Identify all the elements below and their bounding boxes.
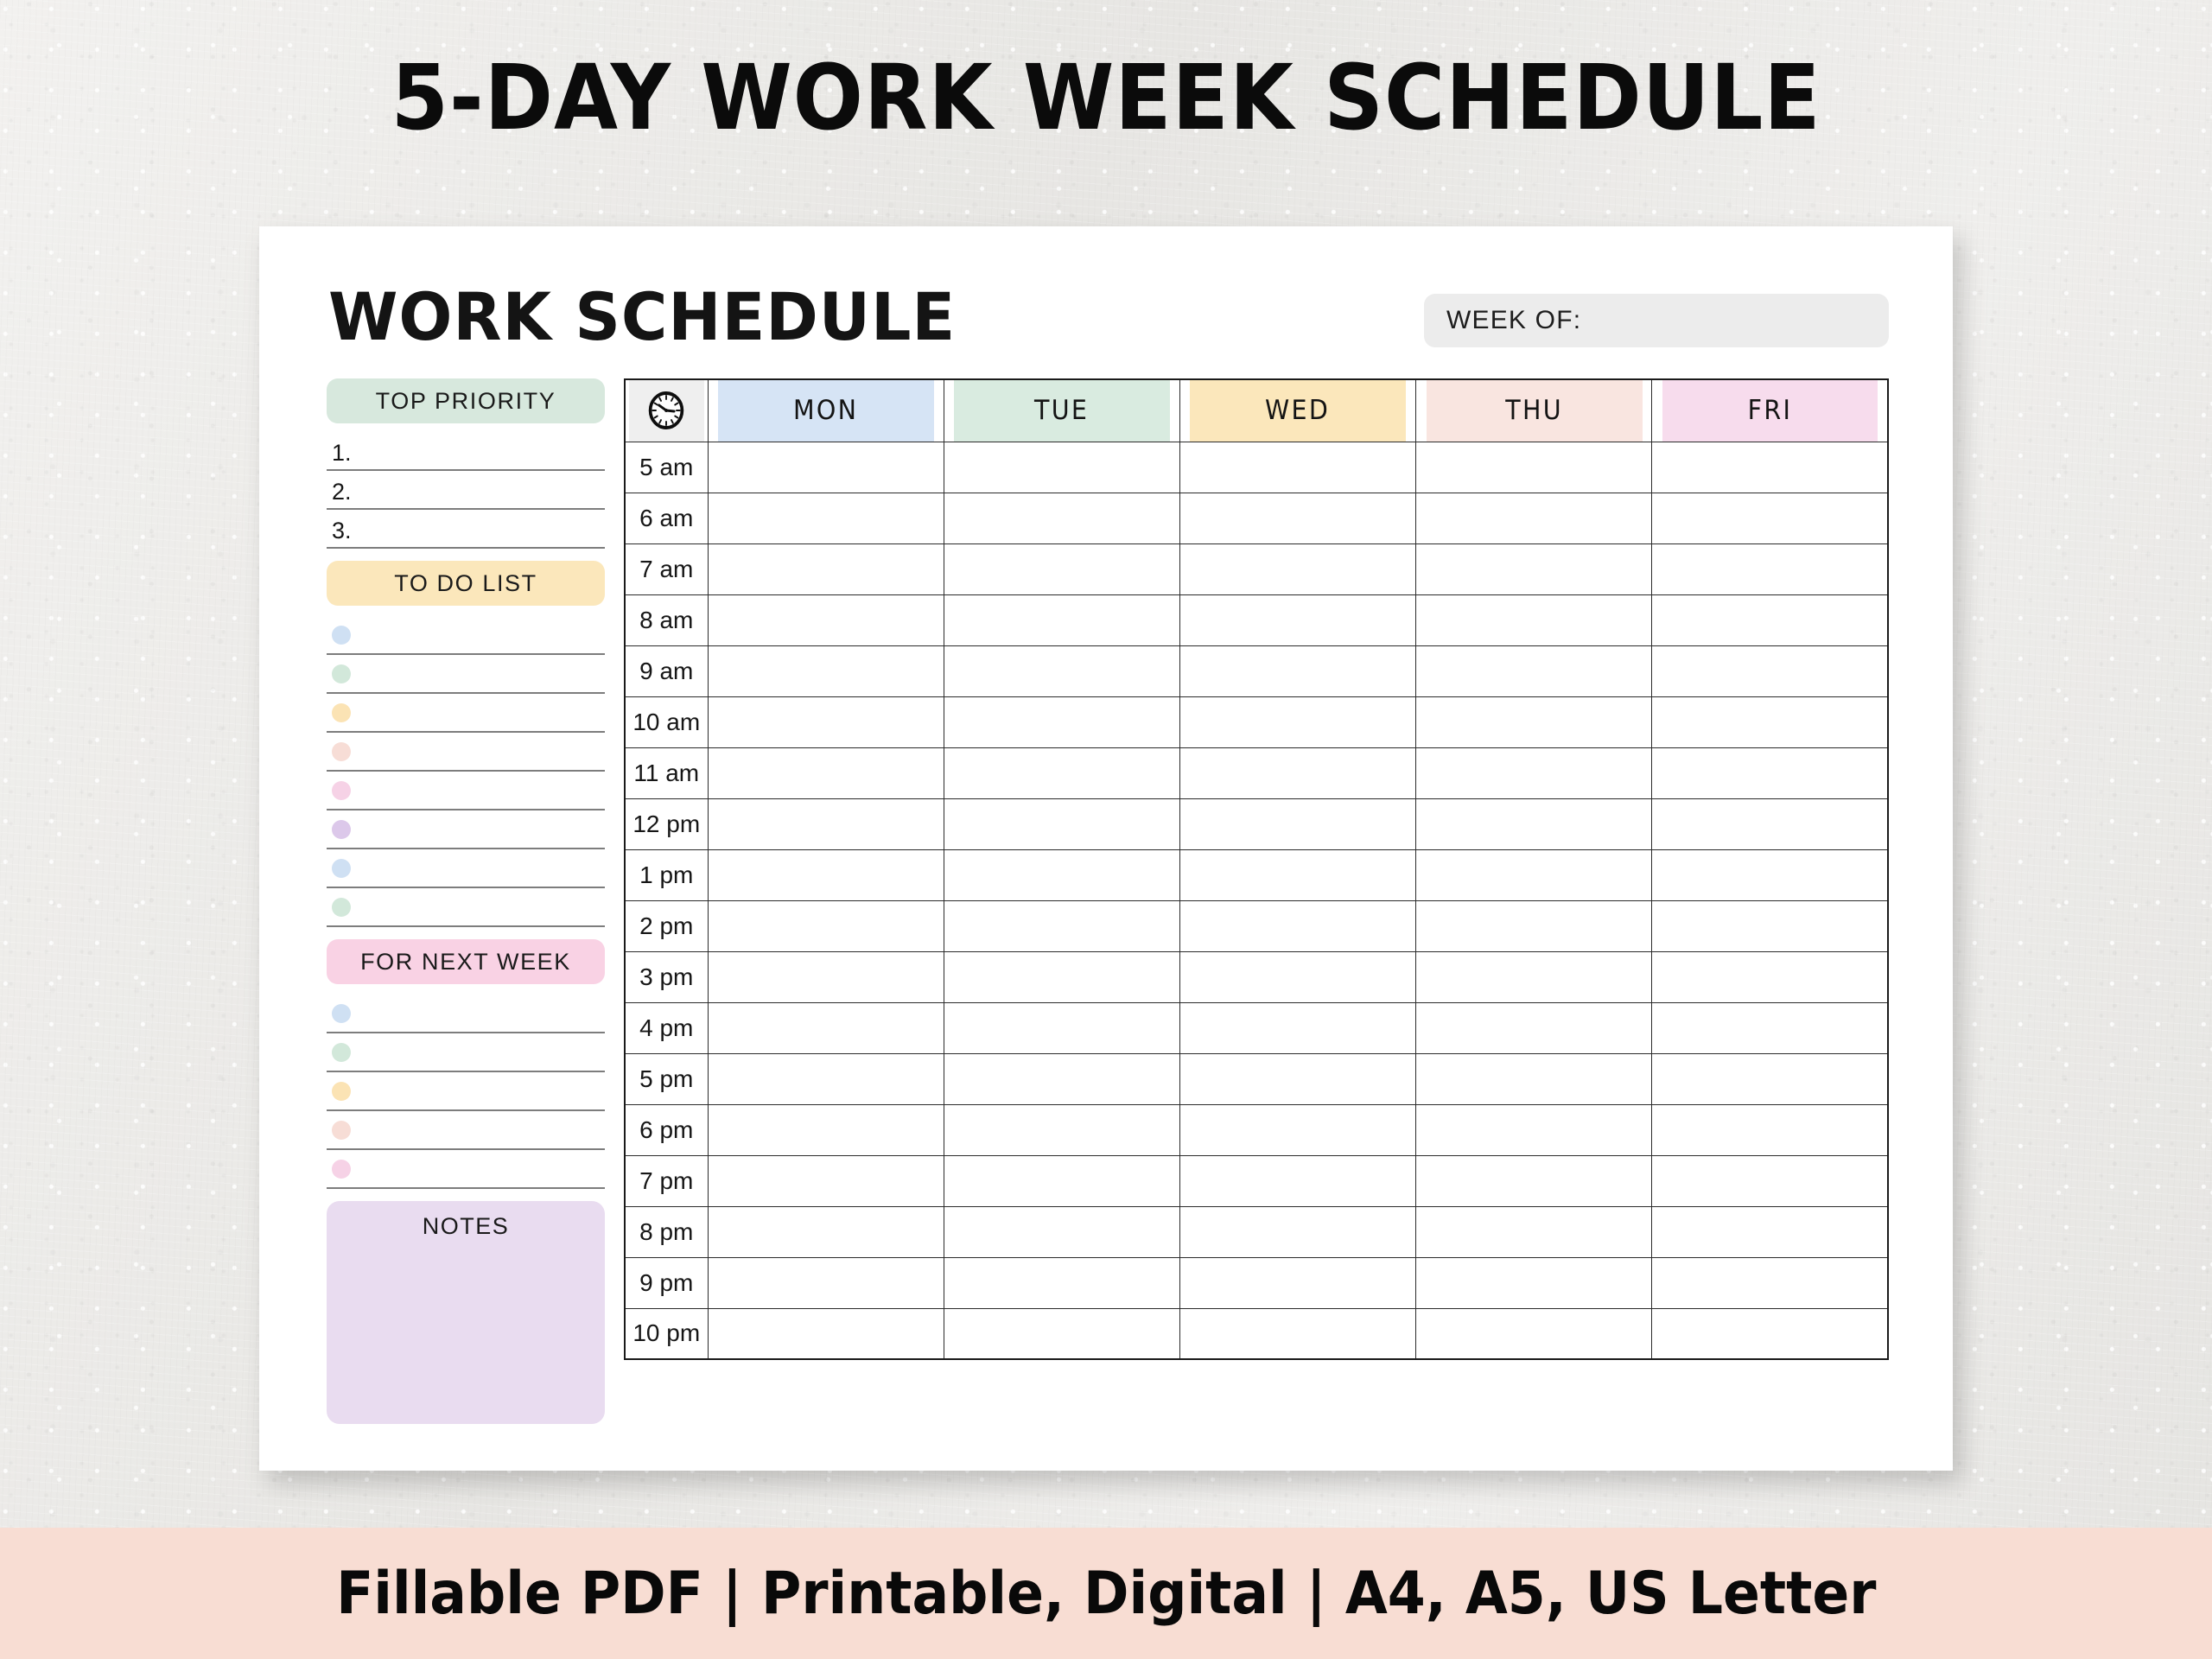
bottom-banner: Fillable PDF | Printable, Digital | A4, … <box>0 1528 2212 1659</box>
list-item[interactable] <box>327 694 605 733</box>
todo-bullet-icon <box>332 781 351 800</box>
time-label: 11 am <box>625 747 708 798</box>
schedule-cell-mon-6pm[interactable] <box>708 1104 944 1155</box>
time-label: 12 pm <box>625 798 708 849</box>
time-label: 10 pm <box>625 1308 708 1359</box>
list-item[interactable] <box>327 772 605 810</box>
time-label: 10 am <box>625 696 708 747</box>
schedule-cell-thu-8pm[interactable] <box>1416 1206 1652 1257</box>
time-label: 7 pm <box>625 1155 708 1206</box>
schedule-cell-wed-8pm[interactable] <box>1179 1206 1415 1257</box>
planner-card-inner: WORK SCHEDULE WEEK OF: TOP PRIORITY 1. 2… <box>327 266 1889 1424</box>
list-item[interactable]: 3. <box>327 510 605 549</box>
schedule-table: MONTUEWEDTHUFRI 5 am6 am7 am8 am9 am10 a… <box>624 378 1889 1360</box>
schedule-cell-mon-10am[interactable] <box>708 696 944 747</box>
schedule-cell-fri-3pm[interactable] <box>1652 951 1888 1002</box>
day-header-tue: TUE <box>953 379 1170 442</box>
schedule-cell-fri-2pm[interactable] <box>1652 900 1888 951</box>
schedule-cell-thu-2pm[interactable] <box>1416 900 1652 951</box>
notes-label: NOTES <box>423 1213 510 1424</box>
schedule-row: 10 am <box>625 696 1888 747</box>
to-do-list <box>327 616 605 927</box>
schedule-cell-mon-7pm[interactable] <box>708 1155 944 1206</box>
schedule-cell-wed-8am[interactable] <box>1179 594 1415 645</box>
schedule-cell-mon-2pm[interactable] <box>708 900 944 951</box>
list-item[interactable] <box>327 1072 605 1111</box>
schedule-cell-tue-7am[interactable] <box>944 543 1179 594</box>
planner-body: TOP PRIORITY 1. 2. 3. TO DO LIST <box>327 378 1889 1415</box>
schedule-cell-tue-6pm[interactable] <box>944 1104 1179 1155</box>
planner-heading: WORK SCHEDULE <box>328 278 956 355</box>
schedule-cell-mon-7am[interactable] <box>708 543 944 594</box>
for-next-week-list <box>327 995 605 1189</box>
day-header-mon: MON <box>717 379 934 442</box>
schedule-cell-wed-9am[interactable] <box>1179 645 1415 696</box>
time-label: 6 pm <box>625 1104 708 1155</box>
time-label: 1 pm <box>625 849 708 900</box>
schedule-cell-mon-11am[interactable] <box>708 747 944 798</box>
schedule-cell-mon-4pm[interactable] <box>708 1002 944 1053</box>
schedule-row: 10 pm <box>625 1308 1888 1359</box>
schedule-row: 3 pm <box>625 951 1888 1002</box>
schedule-row: 8 pm <box>625 1206 1888 1257</box>
schedule-cell-tue-1pm[interactable] <box>944 849 1179 900</box>
schedule-cell-mon-6am[interactable] <box>708 493 944 543</box>
schedule-cell-thu-11am[interactable] <box>1416 747 1652 798</box>
schedule-cell-wed-7pm[interactable] <box>1179 1155 1415 1206</box>
schedule-cell-fri-7am[interactable] <box>1652 543 1888 594</box>
todo-bullet-icon <box>332 742 351 761</box>
list-item[interactable] <box>327 616 605 655</box>
time-label: 5 pm <box>625 1053 708 1104</box>
schedule-row: 6 pm <box>625 1104 1888 1155</box>
todo-bullet-icon <box>332 626 351 645</box>
schedule-cell-fri-9pm[interactable] <box>1652 1257 1888 1308</box>
schedule-cell-mon-3pm[interactable] <box>708 951 944 1002</box>
schedule-cell-wed-5pm[interactable] <box>1179 1053 1415 1104</box>
planner-card: WORK SCHEDULE WEEK OF: TOP PRIORITY 1. 2… <box>259 226 1953 1471</box>
schedule-cell-tue-11am[interactable] <box>944 747 1179 798</box>
schedule-cell-tue-2pm[interactable] <box>944 900 1179 951</box>
schedule-row: 7 am <box>625 543 1888 594</box>
bottom-banner-text: Fillable PDF | Printable, Digital | A4, … <box>336 1560 1876 1628</box>
time-label: 9 pm <box>625 1257 708 1308</box>
schedule-cell-mon-8am[interactable] <box>708 594 944 645</box>
schedule-cell-thu-9pm[interactable] <box>1416 1257 1652 1308</box>
schedule-header-row: MONTUEWEDTHUFRI <box>625 379 1888 442</box>
schedule-cell-tue-8am[interactable] <box>944 594 1179 645</box>
schedule-cell-wed-4pm[interactable] <box>1179 1002 1415 1053</box>
schedule-cell-wed-10am[interactable] <box>1179 696 1415 747</box>
schedule-row: 5 pm <box>625 1053 1888 1104</box>
schedule-cell-tue-3pm[interactable] <box>944 951 1179 1002</box>
schedule-cell-wed-5am[interactable] <box>1179 442 1415 493</box>
schedule-cell-fri-1pm[interactable] <box>1652 849 1888 900</box>
schedule-cell-mon-5am[interactable] <box>708 442 944 493</box>
list-item[interactable] <box>327 733 605 772</box>
schedule-cell-fri-5pm[interactable] <box>1652 1053 1888 1104</box>
schedule-cell-fri-9am[interactable] <box>1652 645 1888 696</box>
schedule-cell-wed-1pm[interactable] <box>1179 849 1415 900</box>
schedule-cell-tue-5am[interactable] <box>944 442 1179 493</box>
schedule-cell-tue-10pm[interactable] <box>944 1308 1179 1359</box>
schedule-row: 8 am <box>625 594 1888 645</box>
section-header-top-priority: TOP PRIORITY <box>327 378 605 423</box>
schedule-cell-fri-8pm[interactable] <box>1652 1206 1888 1257</box>
schedule-cell-fri-6am[interactable] <box>1652 493 1888 543</box>
schedule-cell-thu-5am[interactable] <box>1416 442 1652 493</box>
notes-box[interactable]: NOTES <box>327 1201 605 1424</box>
next-week-bullet-icon <box>332 1160 351 1179</box>
schedule-cell-wed-10pm[interactable] <box>1179 1308 1415 1359</box>
schedule-cell-thu-5pm[interactable] <box>1416 1053 1652 1104</box>
schedule-cell-fri-10pm[interactable] <box>1652 1308 1888 1359</box>
schedule-cell-tue-8pm[interactable] <box>944 1206 1179 1257</box>
list-item[interactable]: 1. <box>327 432 605 471</box>
schedule-cell-mon-8pm[interactable] <box>708 1206 944 1257</box>
priority-number: 1. <box>327 440 352 469</box>
schedule-cell-tue-9pm[interactable] <box>944 1257 1179 1308</box>
schedule-row: 6 am <box>625 493 1888 543</box>
time-label: 7 am <box>625 543 708 594</box>
priority-number: 3. <box>327 518 352 547</box>
todo-bullet-icon <box>332 703 351 722</box>
week-of-field[interactable]: WEEK OF: <box>1424 294 1889 347</box>
schedule-cell-mon-9pm[interactable] <box>708 1257 944 1308</box>
schedule-cell-thu-12pm[interactable] <box>1416 798 1652 849</box>
schedule-cell-tue-7pm[interactable] <box>944 1155 1179 1206</box>
schedule-cell-fri-6pm[interactable] <box>1652 1104 1888 1155</box>
schedule-cell-mon-1pm[interactable] <box>708 849 944 900</box>
schedule-cell-wed-7am[interactable] <box>1179 543 1415 594</box>
schedule-row: 4 pm <box>625 1002 1888 1053</box>
schedule-cell-tue-10am[interactable] <box>944 696 1179 747</box>
schedule-cell-fri-5am[interactable] <box>1652 442 1888 493</box>
todo-bullet-icon <box>332 898 351 917</box>
schedule-body: 5 am6 am7 am8 am9 am10 am11 am12 pm1 pm2… <box>625 442 1888 1359</box>
todo-bullet-icon <box>332 820 351 839</box>
todo-bullet-icon <box>332 664 351 683</box>
schedule-cell-wed-11am[interactable] <box>1179 747 1415 798</box>
schedule-row: 9 pm <box>625 1257 1888 1308</box>
time-label: 2 pm <box>625 900 708 951</box>
schedule-cell-thu-4pm[interactable] <box>1416 1002 1652 1053</box>
section-header-for-next-week: FOR NEXT WEEK <box>327 939 605 984</box>
list-item[interactable] <box>327 810 605 849</box>
list-item[interactable] <box>327 849 605 888</box>
schedule-cell-tue-4pm[interactable] <box>944 1002 1179 1053</box>
time-label: 4 pm <box>625 1002 708 1053</box>
schedule-cell-thu-7am[interactable] <box>1416 543 1652 594</box>
clock-icon-cell <box>628 379 704 442</box>
schedule-cell-thu-6am[interactable] <box>1416 493 1652 543</box>
schedule-cell-fri-7pm[interactable] <box>1652 1155 1888 1206</box>
schedule-cell-fri-4pm[interactable] <box>1652 1002 1888 1053</box>
priority-number: 2. <box>327 479 352 508</box>
poster-title: 5-DAY WORK WEEK SCHEDULE <box>88 45 2123 150</box>
schedule-cell-tue-5pm[interactable] <box>944 1053 1179 1104</box>
schedule-cell-wed-6pm[interactable] <box>1179 1104 1415 1155</box>
schedule-grid-wrapper: MONTUEWEDTHUFRI 5 am6 am7 am8 am9 am10 a… <box>624 378 1889 1415</box>
schedule-row: 11 am <box>625 747 1888 798</box>
schedule-cell-wed-12pm[interactable] <box>1179 798 1415 849</box>
schedule-cell-wed-2pm[interactable] <box>1179 900 1415 951</box>
next-week-bullet-icon <box>332 1082 351 1101</box>
schedule-row: 12 pm <box>625 798 1888 849</box>
next-week-bullet-icon <box>332 1043 351 1062</box>
todo-bullet-icon <box>332 859 351 878</box>
list-item[interactable] <box>327 655 605 694</box>
planner-header: WORK SCHEDULE WEEK OF: <box>327 266 1889 378</box>
schedule-cell-tue-9am[interactable] <box>944 645 1179 696</box>
time-label: 8 am <box>625 594 708 645</box>
schedule-cell-thu-1pm[interactable] <box>1416 849 1652 900</box>
clock-icon <box>647 390 685 431</box>
section-header-to-do-list: TO DO LIST <box>327 561 605 606</box>
top-priority-list: 1. 2. 3. <box>327 432 605 549</box>
schedule-cell-mon-9am[interactable] <box>708 645 944 696</box>
schedule-cell-thu-3pm[interactable] <box>1416 951 1652 1002</box>
time-label: 5 am <box>625 442 708 493</box>
schedule-row: 9 am <box>625 645 1888 696</box>
schedule-row: 7 pm <box>625 1155 1888 1206</box>
list-item[interactable] <box>327 1033 605 1072</box>
schedule-cell-tue-6am[interactable] <box>944 493 1179 543</box>
list-item[interactable] <box>327 1150 605 1189</box>
schedule-cell-mon-12pm[interactable] <box>708 798 944 849</box>
schedule-cell-fri-10am[interactable] <box>1652 696 1888 747</box>
schedule-cell-fri-12pm[interactable] <box>1652 798 1888 849</box>
list-item[interactable]: 2. <box>327 471 605 510</box>
day-header-fri: FRI <box>1662 379 1878 442</box>
schedule-cell-mon-10pm[interactable] <box>708 1308 944 1359</box>
schedule-cell-fri-11am[interactable] <box>1652 747 1888 798</box>
next-week-bullet-icon <box>332 1121 351 1140</box>
list-item[interactable] <box>327 1111 605 1150</box>
schedule-cell-thu-8am[interactable] <box>1416 594 1652 645</box>
list-item[interactable] <box>327 995 605 1033</box>
schedule-cell-thu-10pm[interactable] <box>1416 1308 1652 1359</box>
schedule-cell-tue-12pm[interactable] <box>944 798 1179 849</box>
schedule-row: 1 pm <box>625 849 1888 900</box>
schedule-cell-thu-10am[interactable] <box>1416 696 1652 747</box>
time-label: 6 am <box>625 493 708 543</box>
next-week-bullet-icon <box>332 1004 351 1023</box>
schedule-cell-wed-6am[interactable] <box>1179 493 1415 543</box>
schedule-cell-fri-8am[interactable] <box>1652 594 1888 645</box>
sidebar: TOP PRIORITY 1. 2. 3. TO DO LIST <box>327 378 605 1415</box>
schedule-row: 2 pm <box>625 900 1888 951</box>
schedule-cell-thu-9am[interactable] <box>1416 645 1652 696</box>
schedule-cell-thu-7pm[interactable] <box>1416 1155 1652 1206</box>
week-of-label: WEEK OF: <box>1446 306 1581 335</box>
time-label: 8 pm <box>625 1206 708 1257</box>
schedule-cell-mon-5pm[interactable] <box>708 1053 944 1104</box>
schedule-cell-wed-3pm[interactable] <box>1179 951 1415 1002</box>
schedule-row: 5 am <box>625 442 1888 493</box>
list-item[interactable] <box>327 888 605 927</box>
day-header-wed: WED <box>1189 379 1406 442</box>
schedule-cell-thu-6pm[interactable] <box>1416 1104 1652 1155</box>
poster-canvas: 5-DAY WORK WEEK SCHEDULE WORK SCHEDULE W… <box>0 0 2212 1659</box>
schedule-cell-wed-9pm[interactable] <box>1179 1257 1415 1308</box>
day-header-thu: THU <box>1425 379 1642 442</box>
time-label: 3 pm <box>625 951 708 1002</box>
time-label: 9 am <box>625 645 708 696</box>
